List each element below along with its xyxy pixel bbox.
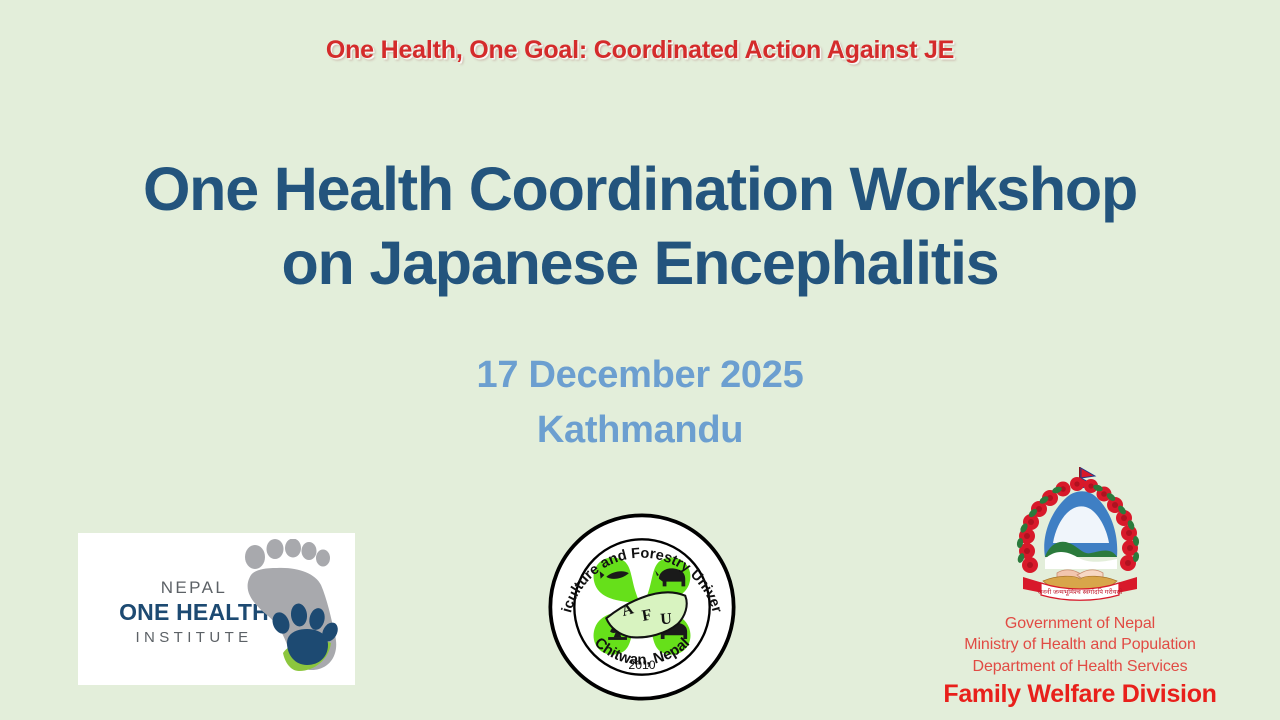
slide-tagline: One Health, One Goal: Coordinated Action… [0, 36, 1280, 65]
agriculture-and-forestry-university-seal: A F U 2010 Agriculture and Forestry Univ… [548, 513, 736, 701]
nepal-government-emblem: जननी जन्मभूमिश्च स्वर्गादपि गरीयसी [1005, 465, 1155, 610]
gov-line-department: Department of Health Services [930, 656, 1230, 677]
event-location: Kathmandu [0, 403, 1280, 458]
svg-text:जननी जन्मभूमिश्च स्वर्गादपि गर: जननी जन्मभूमिश्च स्वर्गादपि गरीयसी [1037, 588, 1122, 596]
event-date: 17 December 2025 [0, 348, 1280, 403]
gov-line-ministry: Ministry of Health and Population [930, 634, 1230, 655]
logo-row: NEPAL ONE HEALTH INSTITUTE [0, 455, 1280, 720]
government-logo-block: जननी जन्मभूमिश्च स्वर्गादपि गरीयसी [930, 465, 1230, 715]
gov-line-government-of-nepal: Government of Nepal [930, 613, 1230, 634]
slide-canvas: One Health, One Goal: Coordinated Action… [0, 0, 1280, 720]
nepal-one-health-institute-logo: NEPAL ONE HEALTH INSTITUTE [78, 533, 355, 685]
government-text-lines: Government of Nepal Ministry of Health a… [930, 613, 1230, 709]
title-line-1: One Health Coordination Workshop [40, 152, 1240, 226]
gov-line-family-welfare-division: Family Welfare Division [930, 679, 1230, 709]
title-line-2: on Japanese Encephalitis [40, 226, 1240, 300]
afu-initial-u: U [660, 611, 673, 629]
slide-meta: 17 December 2025 Kathmandu [0, 348, 1280, 458]
slide-title: One Health Coordination Workshop on Japa… [40, 152, 1240, 301]
footprint-paw-leaf-icon [231, 539, 349, 679]
